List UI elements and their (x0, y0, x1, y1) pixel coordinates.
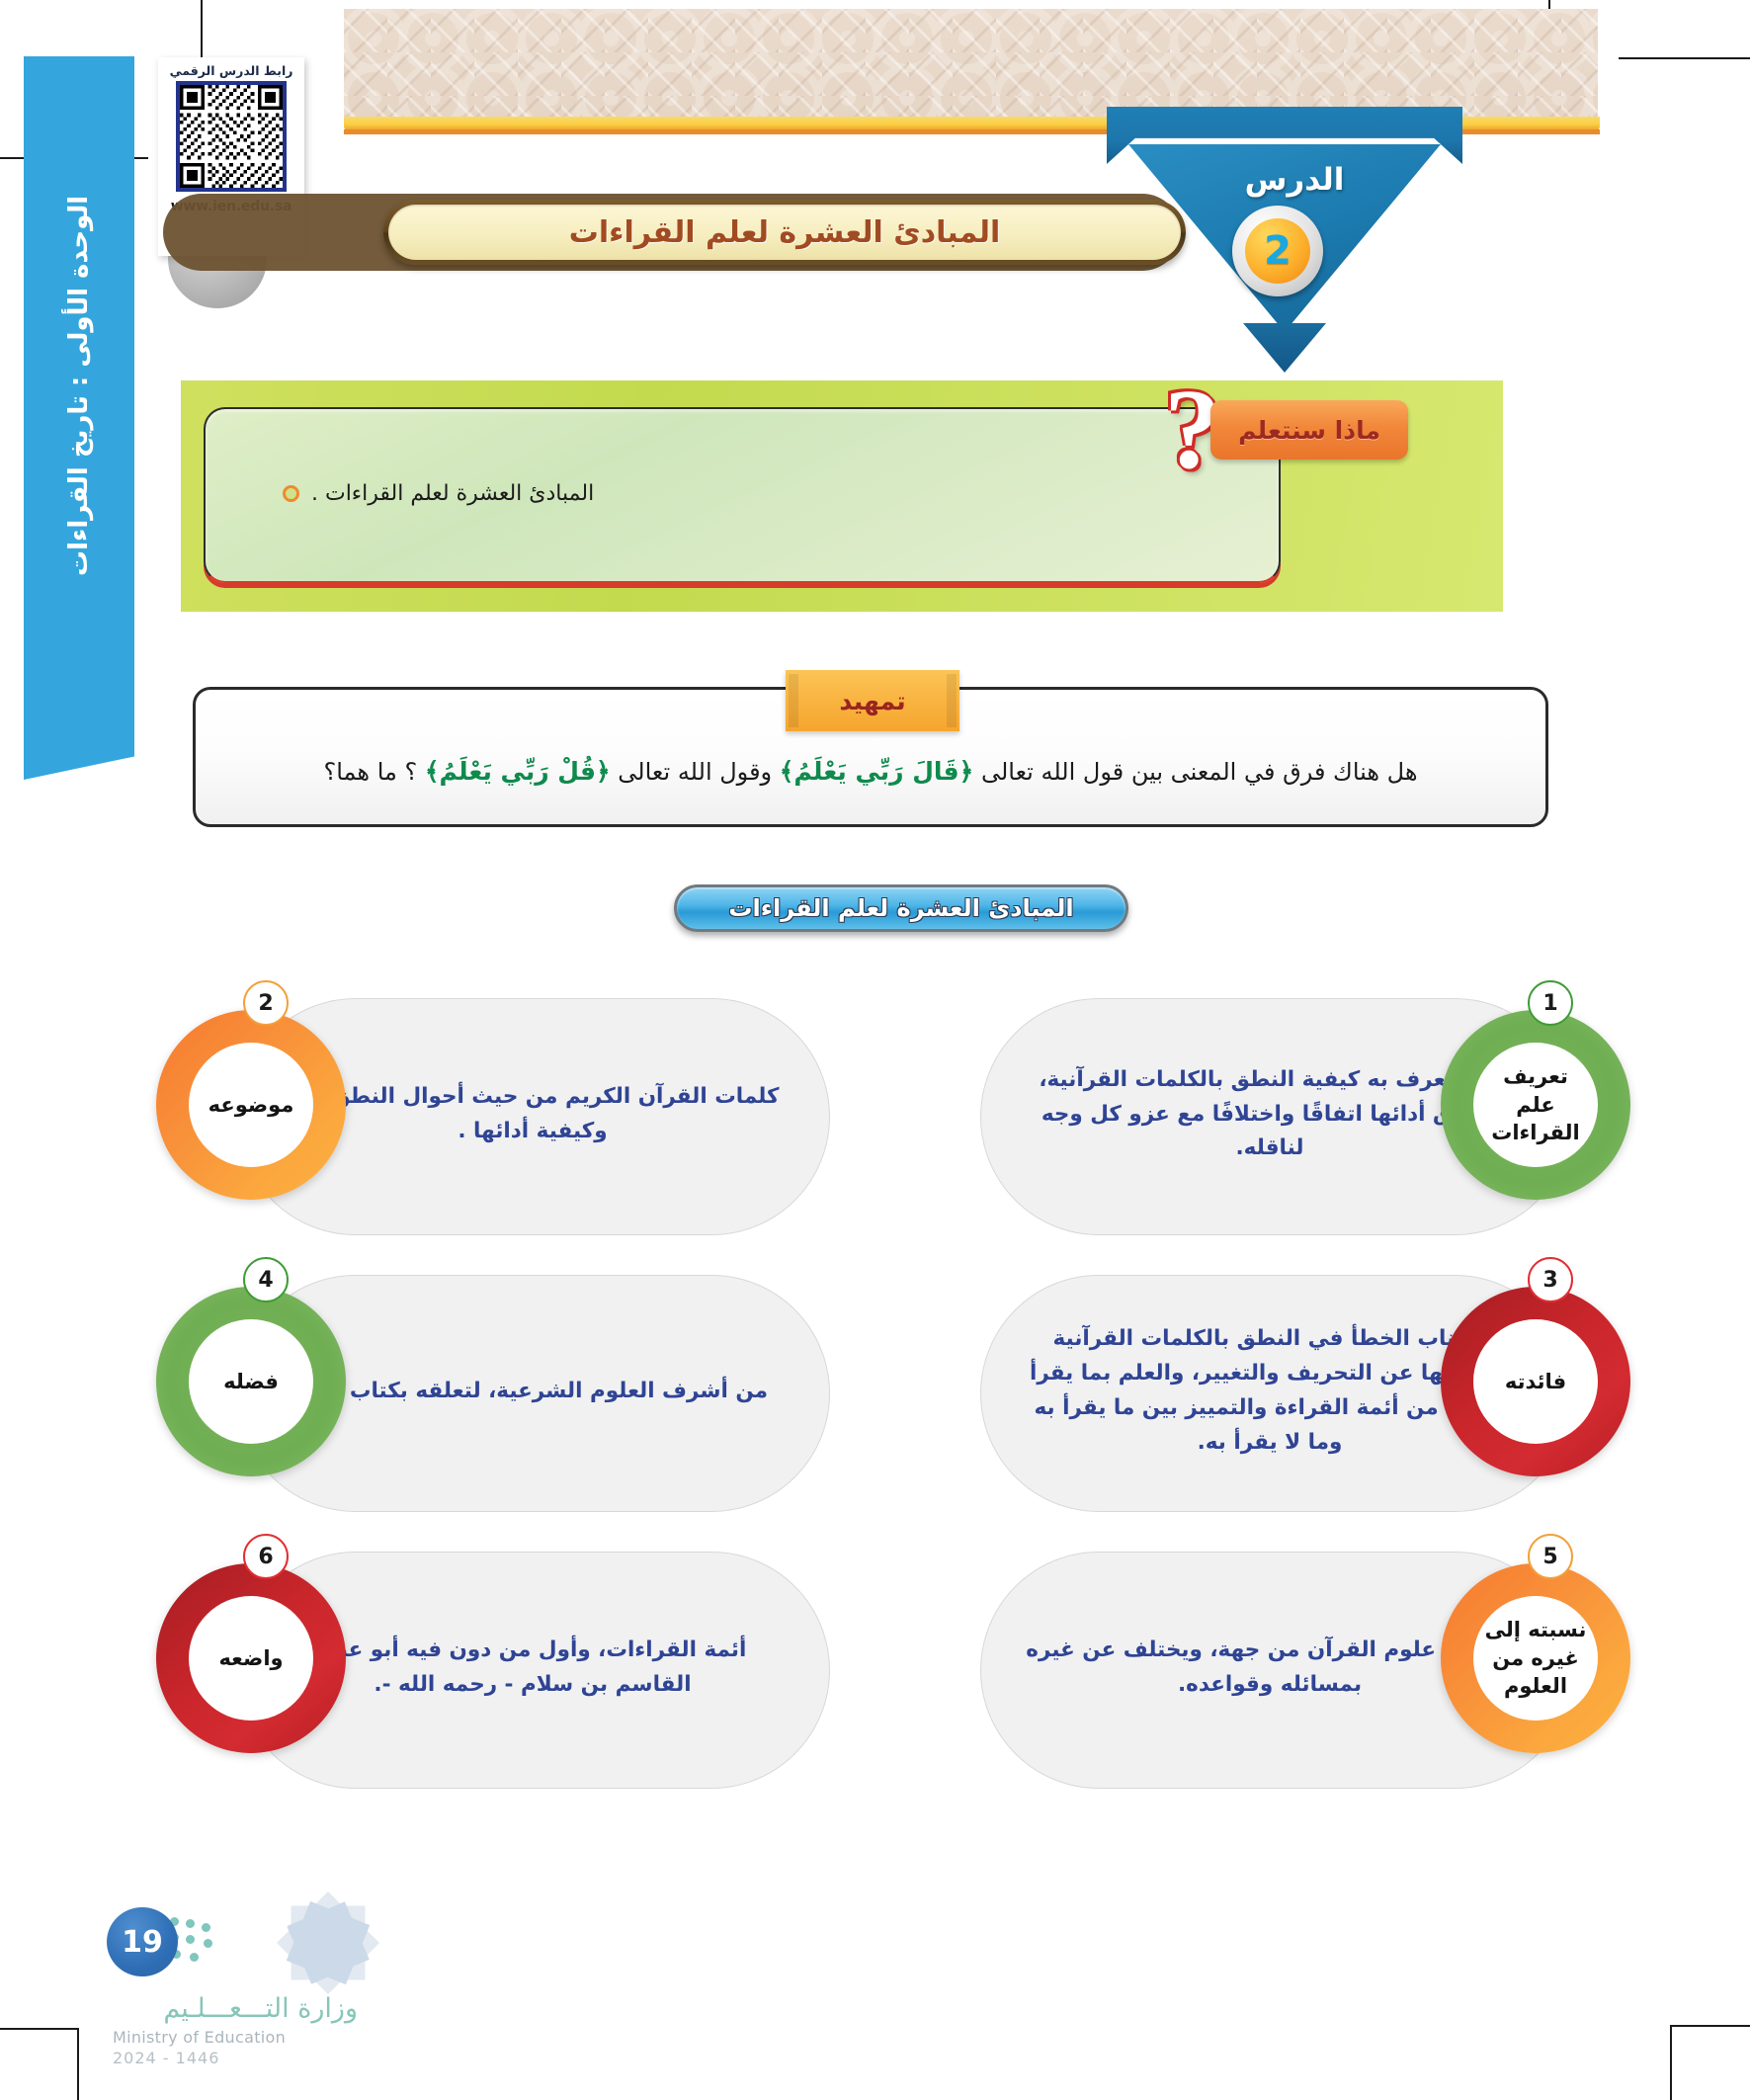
lesson-number-value: 2 (1245, 218, 1310, 284)
principles-row-2: اجتناب الخطأ في النطق بالكلمات القرآنية … (109, 1265, 1630, 1522)
ornamental-header-band (344, 9, 1598, 119)
principle-card-3-ring: فائدته (1441, 1287, 1630, 1476)
principle-card-1-title: تعريفعلم القراءات (1473, 1043, 1598, 1167)
principle-card-5-title: نسبته إلىغيره من العلوم (1473, 1596, 1598, 1721)
ministry-name-arabic: وزارة التـــعـــلـيم (111, 1993, 358, 2024)
crop-mark-bottom-right-vertical (1670, 2025, 1672, 2100)
principle-card-4-ring: فضله (156, 1287, 346, 1476)
principle-card-5-number: 5 (1528, 1534, 1573, 1579)
objectives-item-text: المبادئ العشرة لعلم القراءات . (311, 481, 594, 506)
principles-row-1: علم يعرف به كيفية النطق بالكلمات القرآني… (109, 988, 1630, 1245)
lesson-number-badge: 2 (1232, 206, 1323, 296)
principle-card-3[interactable]: اجتناب الخطأ في النطق بالكلمات القرآنية … (879, 1265, 1630, 1522)
objectives-tab: ماذا سنتعلم (1210, 400, 1408, 460)
principle-card-2-body: كلمات القرآن الكريم من حيث أحوال النطق ب… (281, 996, 785, 1233)
principle-card-1[interactable]: علم يعرف به كيفية النطق بالكلمات القرآني… (879, 988, 1630, 1245)
principle-card-2-title: موضوعه (189, 1043, 313, 1167)
intro-tab-label: تمهيد (839, 687, 905, 715)
principle-card-5-ring: نسبته إلىغيره من العلوم (1441, 1563, 1630, 1753)
principle-card-6-title: واضعه (189, 1596, 313, 1721)
principle-card-6[interactable]: أئمة القراءات، وأول من دون فيه أبو عبيد … (109, 1542, 860, 1799)
principle-card-1-ring: تعريفعلم القراءات (1441, 1010, 1630, 1200)
edition-year: 2024 - 1446 (113, 2049, 360, 2067)
unit-label: الوحدة الأولى : تاريخ القراءات (24, 99, 134, 672)
principle-card-4-title: فضله (189, 1319, 313, 1444)
principle-card-4-number: 4 (243, 1257, 289, 1302)
lesson-word-label: الدرس (1097, 162, 1492, 198)
principle-card-3-number: 3 (1528, 1257, 1573, 1302)
crop-mark-top-left-vertical (201, 0, 203, 59)
principle-card-6-number: 6 (243, 1534, 289, 1579)
principle-card-1-number: 1 (1528, 980, 1573, 1026)
objectives-list-item: المبادئ العشرة لعلم القراءات . (204, 481, 1231, 506)
crop-mark-bottom-right-horizontal (1670, 2025, 1750, 2027)
intro-tab: تمهيد (786, 670, 959, 731)
crop-mark-bottom-left-horizontal (0, 2028, 77, 2030)
qr-code-icon[interactable] (176, 81, 287, 192)
principle-card-2-ring: موضوعه (156, 1010, 346, 1200)
principle-card-2-number: 2 (243, 980, 289, 1026)
intro-text-after: ؟ ما هما؟ (323, 758, 417, 786)
principles-row-3: هو أحد علوم القرآن من جهة، ويختلف عن غير… (109, 1542, 1630, 1799)
principle-card-4-body: من أشرف العلوم الشرعية، لتعلقه بكتاب الل… (281, 1273, 785, 1510)
principle-card-4[interactable]: من أشرف العلوم الشرعية، لتعلقه بكتاب الل… (109, 1265, 860, 1522)
lesson-title-plaque: المبادئ العشرة لعلم القراءات (383, 200, 1186, 265)
ayah-quote-2: ﴿قُلْ رَبِّي يَعْلَمُ﴾ (425, 757, 611, 786)
bullet-icon (283, 485, 299, 502)
principle-card-2[interactable]: كلمات القرآن الكريم من حيث أحوال النطق ب… (109, 988, 860, 1245)
objectives-tab-label: ماذا سنتعلم (1238, 416, 1380, 445)
section-heading: المبادئ العشرة لعلم القراءات (674, 884, 1128, 932)
principle-card-6-body: أئمة القراءات، وأول من دون فيه أبو عبيد … (281, 1550, 785, 1787)
principles-grid: علم يعرف به كيفية النطق بالكلمات القرآني… (109, 988, 1630, 1828)
ministry-name-english: Ministry of Education (113, 2028, 360, 2047)
crop-mark-top-right-horizontal (1619, 57, 1750, 59)
intro-text-middle: وقول الله تعالى (618, 758, 772, 786)
page-footer: 19 وزارة التـــعـــلـيم Ministry of Educ… (91, 1890, 506, 2067)
ribbon-triangle-tail (1243, 323, 1326, 373)
crop-mark-bottom-left-vertical (77, 2028, 79, 2100)
ministry-rosette-icon (277, 1891, 379, 1994)
lesson-number-ribbon: الدرس 2 (1097, 107, 1492, 393)
principle-card-6-ring: واضعه (156, 1563, 346, 1753)
qr-card-title: رابط الدرس الرقمي (158, 63, 304, 78)
page-title: المبادئ العشرة لعلم القراءات (569, 215, 1001, 250)
intro-question-text: هل هناك فرق في المعنى بين قول الله تعالى… (193, 753, 1548, 791)
ayah-quote-1: ﴿قَالَ رَبِّي يَعْلَمُ﴾ (780, 757, 974, 786)
principle-card-5[interactable]: هو أحد علوم القرآن من جهة، ويختلف عن غير… (879, 1542, 1630, 1799)
page-number-badge: 19 (107, 1907, 178, 1976)
section-heading-label: المبادئ العشرة لعلم القراءات (728, 894, 1073, 922)
intro-text-before: هل هناك فرق في المعنى بين قول الله تعالى (981, 758, 1418, 786)
principle-card-3-title: فائدته (1473, 1319, 1598, 1444)
